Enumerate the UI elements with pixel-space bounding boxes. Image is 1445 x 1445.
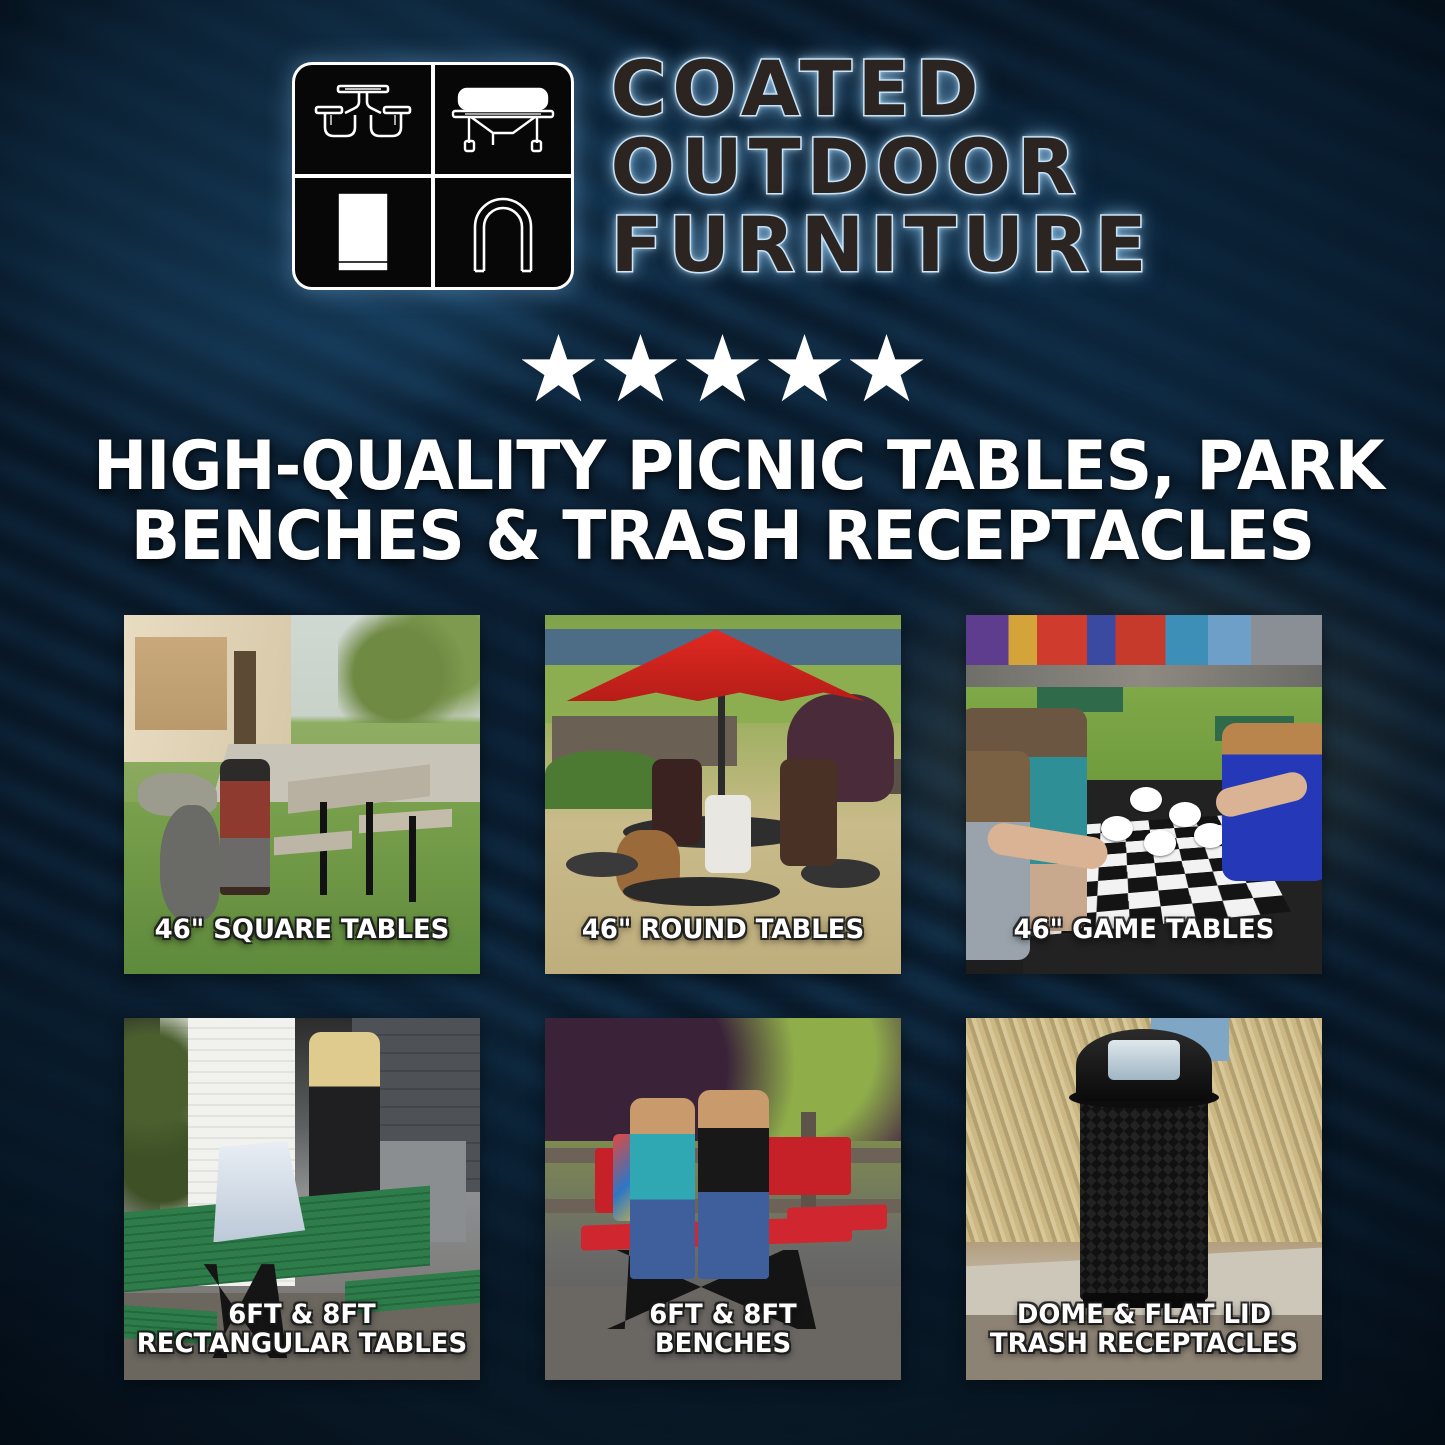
tile-caption: DOME & FLAT LID TRASH RECEPTACLES [973, 1300, 1315, 1358]
tile-caption: 46" ROUND TABLES [552, 915, 894, 944]
product-tile-game-tables[interactable]: 46" GAME TABLES [966, 615, 1322, 974]
tile-caption: 6FT & 8FT RECTANGULAR TABLES [131, 1300, 473, 1358]
brand-line-3: FURNITURE [610, 210, 1152, 280]
product-tile-round-tables[interactable]: 46" ROUND TABLES [545, 615, 901, 974]
product-tile-benches[interactable]: 6FT & 8FT BENCHES [545, 1018, 901, 1380]
product-tile-rectangular-tables[interactable]: 6FT & 8FT RECTANGULAR TABLES [124, 1018, 480, 1380]
tile-caption: 46" GAME TABLES [973, 915, 1315, 944]
caption-line-2: RECTANGULAR TABLES [131, 1329, 473, 1358]
caption-line-2: BENCHES [552, 1329, 894, 1358]
four-quadrant-furniture-logo [292, 62, 574, 290]
five-star-rating [0, 334, 1445, 406]
trash-receptacle-icon [295, 178, 431, 287]
star-icon [686, 334, 760, 406]
caption-line-1: 46" GAME TABLES [973, 915, 1315, 944]
picnic-table-icon [295, 65, 431, 174]
product-tile-square-tables[interactable]: 46" SQUARE TABLES [124, 615, 480, 974]
brand-header: COATED OUTDOOR FURNITURE [0, 62, 1445, 290]
brand-line-1: COATED [610, 54, 984, 124]
product-grid: 46" SQUARE TABLES [124, 615, 1322, 1380]
caption-line-1: 46" SQUARE TABLES [131, 915, 473, 944]
caption-line-1: 46" ROUND TABLES [552, 915, 894, 944]
tile-caption: 46" SQUARE TABLES [131, 915, 473, 944]
tile-caption: 6FT & 8FT BENCHES [552, 1300, 894, 1358]
brand-wordmark: COATED OUTDOOR FURNITURE [610, 54, 1152, 280]
headline-line-1: HIGH-QUALITY PICNIC TABLES, PARK [93, 432, 1352, 502]
caption-line-1: 6FT & 8FT [552, 1300, 894, 1329]
poster-canvas: COATED OUTDOOR FURNITURE HIGH-QUALITY PI… [0, 0, 1445, 1445]
bike-rack-icon [435, 178, 571, 287]
headline-line-2: BENCHES & TRASH RECEPTACLES [93, 502, 1352, 572]
product-row: 6FT & 8FT RECTANGULAR TABLES [124, 1018, 1322, 1380]
brand-line-2: OUTDOOR [610, 132, 1081, 202]
star-icon [604, 334, 678, 406]
star-icon [850, 334, 924, 406]
page-title: HIGH-QUALITY PICNIC TABLES, PARK BENCHES… [93, 432, 1352, 572]
caption-line-1: 6FT & 8FT [131, 1300, 473, 1329]
product-row: 46" SQUARE TABLES [124, 615, 1322, 974]
caption-line-1: DOME & FLAT LID [973, 1300, 1315, 1329]
park-bench-icon [435, 65, 571, 174]
caption-line-2: TRASH RECEPTACLES [973, 1329, 1315, 1358]
star-icon [522, 334, 596, 406]
star-icon [768, 334, 842, 406]
product-tile-trash-receptacles[interactable]: DOME & FLAT LID TRASH RECEPTACLES [966, 1018, 1322, 1380]
